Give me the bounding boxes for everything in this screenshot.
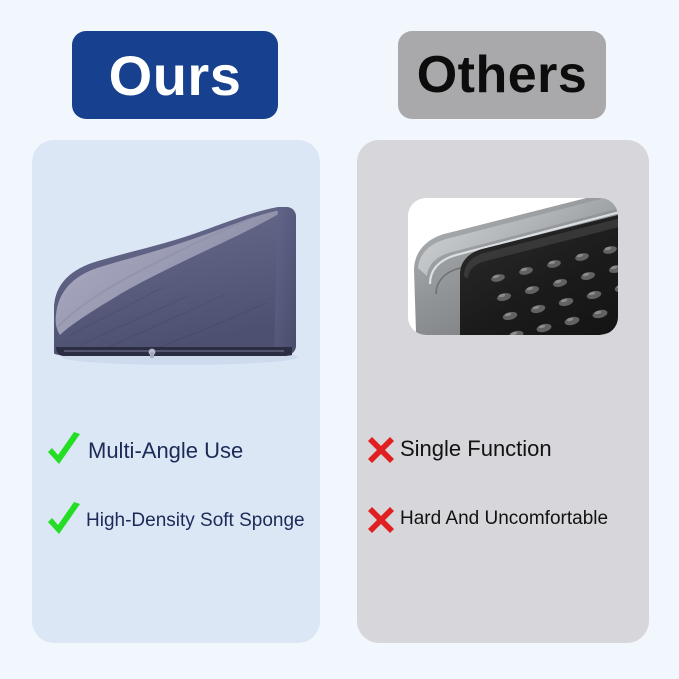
others-panel: Single Function Hard And Uncomfortable [357,140,649,643]
footrest-platform-icon [408,198,618,335]
ours-badge: Ours [72,31,278,119]
ours-feature-label: Multi-Angle Use [88,438,243,464]
wedge-pillow-image [40,185,312,375]
ours-feature-item: High-Density Soft Sponge [44,500,305,542]
others-feature-item: Single Function [365,432,552,466]
x-icon [365,432,397,466]
wedge-pillow-icon [40,185,312,375]
check-icon [44,500,84,542]
ours-feature-item: Multi-Angle Use [44,430,243,472]
x-icon [365,502,397,536]
others-product-card [408,198,618,335]
check-icon [44,430,84,472]
others-feature-label: Single Function [400,436,552,462]
others-feature-label: Hard And Uncomfortable [400,508,608,530]
ours-panel: Multi-Angle Use High-Density Soft Sponge [32,140,320,643]
comparison-header: Ours Others [0,0,679,132]
hard-footrest-image [408,198,618,335]
ours-feature-label: High-Density Soft Sponge [86,510,305,532]
others-badge: Others [398,31,606,119]
others-feature-item: Hard And Uncomfortable [365,502,608,536]
